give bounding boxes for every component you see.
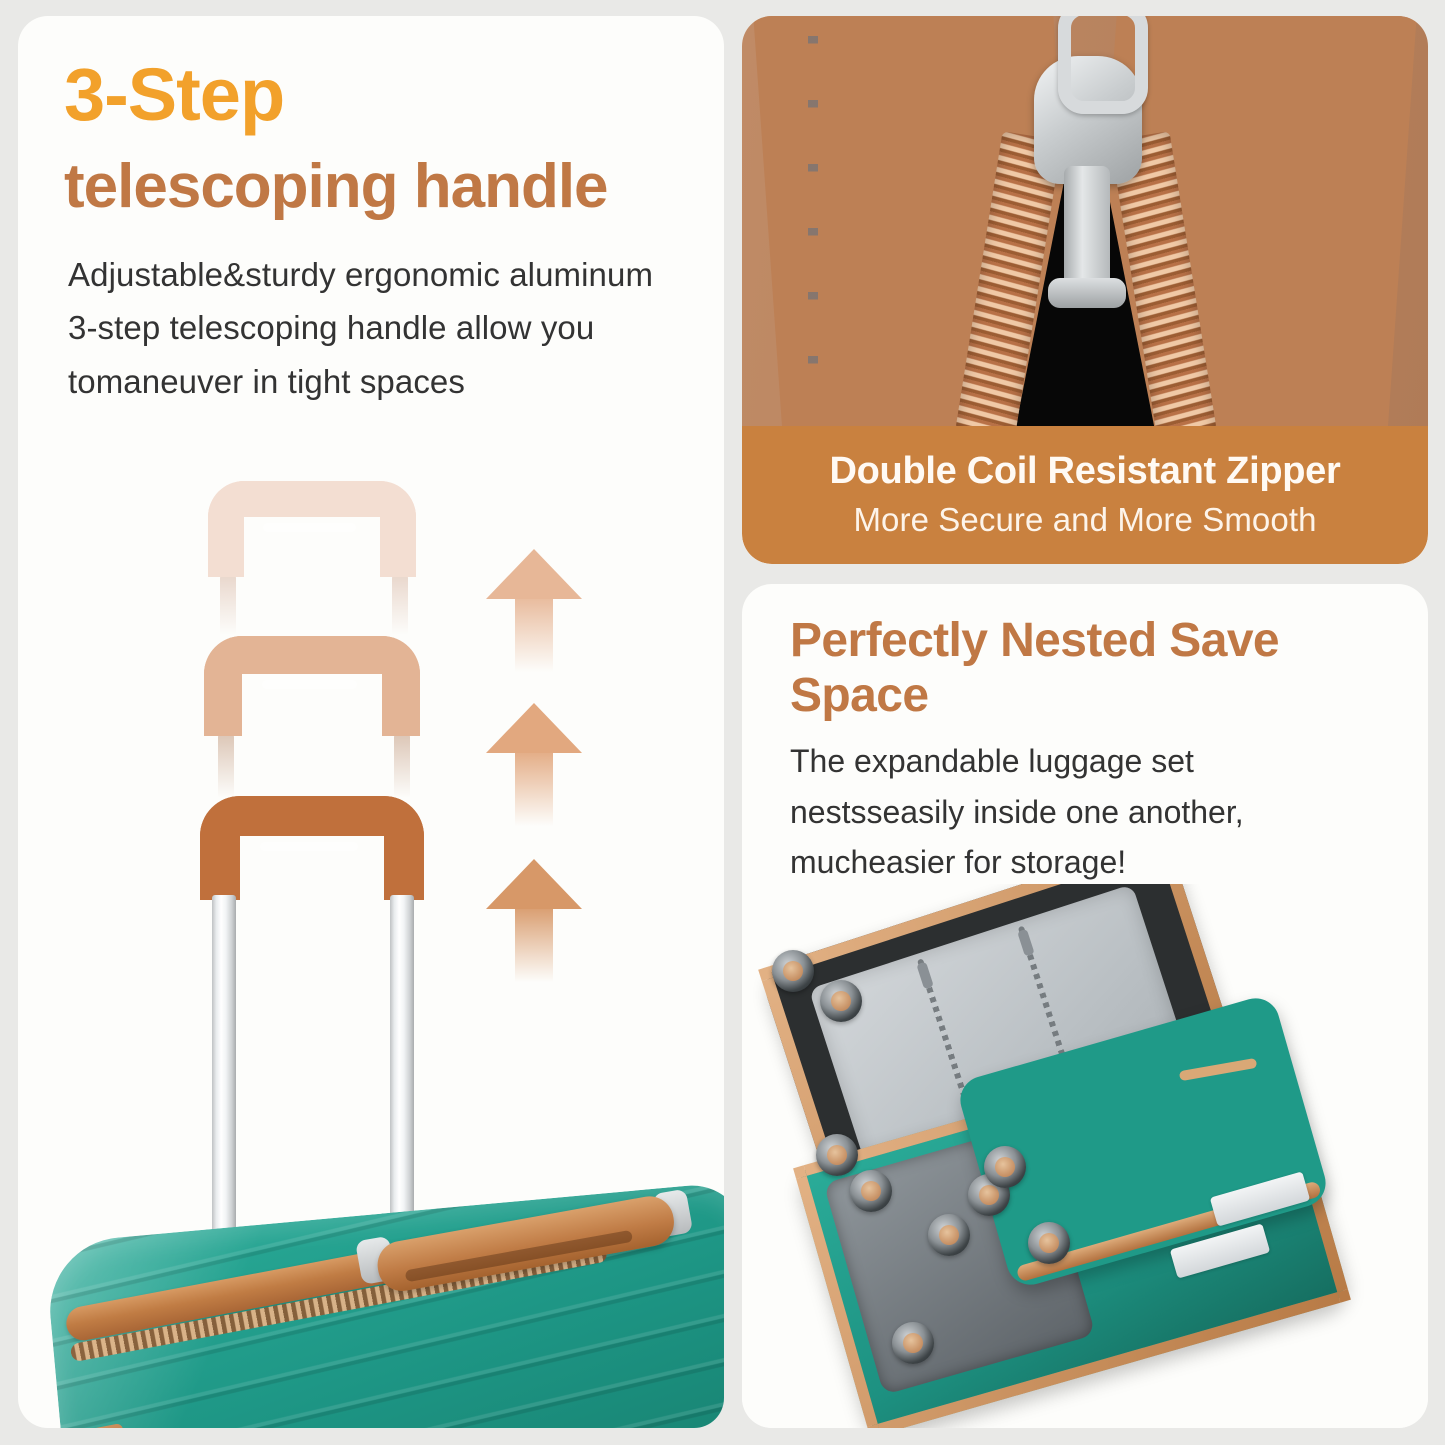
up-arrow-icon [486, 549, 582, 679]
infographic-page: 3-Step telescoping handle Adjustable&stu… [0, 0, 1445, 1445]
spinner-wheel [850, 1170, 892, 1212]
spinner-wheel [816, 1134, 858, 1176]
up-arrow-icon [486, 859, 582, 989]
zipper-pull-tab [1058, 16, 1148, 114]
zipper-caption-bar: Double Coil Resistant Zipper More Secure… [742, 426, 1428, 564]
lining-zip-pull [1017, 929, 1035, 957]
handle-tube-stub [220, 575, 236, 635]
zipper-caption-subtitle: More Secure and More Smooth [853, 501, 1316, 539]
telescoping-handle-illustration [18, 471, 724, 1231]
teal-suitcase-photo [18, 1160, 724, 1428]
small-case-trim-strip [1179, 1058, 1258, 1081]
arrow-head [486, 859, 582, 909]
handle-description: Adjustable&sturdy ergonomic aluminum 3-s… [68, 248, 658, 408]
nested-description: The expandable luggage set nestsseasily … [790, 736, 1370, 888]
telescoping-handle-card: 3-Step telescoping handle Adjustable&stu… [18, 16, 724, 1428]
spinner-wheel [984, 1146, 1026, 1188]
handle-tube-stub [392, 575, 408, 635]
spinner-wheel [928, 1214, 970, 1256]
zipper-caption-title: Double Coil Resistant Zipper [830, 451, 1341, 493]
spinner-wheel [772, 950, 814, 992]
arrow-shaft [515, 903, 553, 989]
handle-grip-stage-1 [208, 481, 416, 577]
suitcase-shell [44, 1181, 724, 1428]
zipper-card: Double Coil Resistant Zipper More Secure… [742, 16, 1428, 564]
zipper-slider-neck [1064, 166, 1110, 294]
zipper-macro-photo [742, 16, 1428, 436]
arrow-head [486, 703, 582, 753]
up-arrow-icon [486, 703, 582, 833]
nested-space-card: Perfectly Nested Save Space The expandab… [742, 584, 1428, 1428]
handle-tube-stub [218, 734, 234, 798]
handle-title-line1: 3-Step [64, 58, 284, 132]
handle-tube-stub [394, 734, 410, 798]
arrow-head [486, 549, 582, 599]
handle-grip-stage-3 [200, 796, 424, 900]
handle-title-line2: telescoping handle [64, 154, 608, 219]
spinner-wheel [1028, 1222, 1070, 1264]
nested-luggage-photo [742, 884, 1428, 1428]
lining-zip-pull [916, 962, 934, 990]
zipper-slider-foot [1048, 278, 1126, 308]
arrow-shaft [515, 747, 553, 833]
handle-grip-stage-2 [204, 636, 420, 736]
spinner-wheel [892, 1322, 934, 1364]
spinner-wheel [820, 980, 862, 1022]
zipper-stitching [808, 36, 818, 416]
nested-title: Perfectly Nested Save Space [790, 614, 1390, 723]
arrow-shaft [515, 593, 553, 679]
